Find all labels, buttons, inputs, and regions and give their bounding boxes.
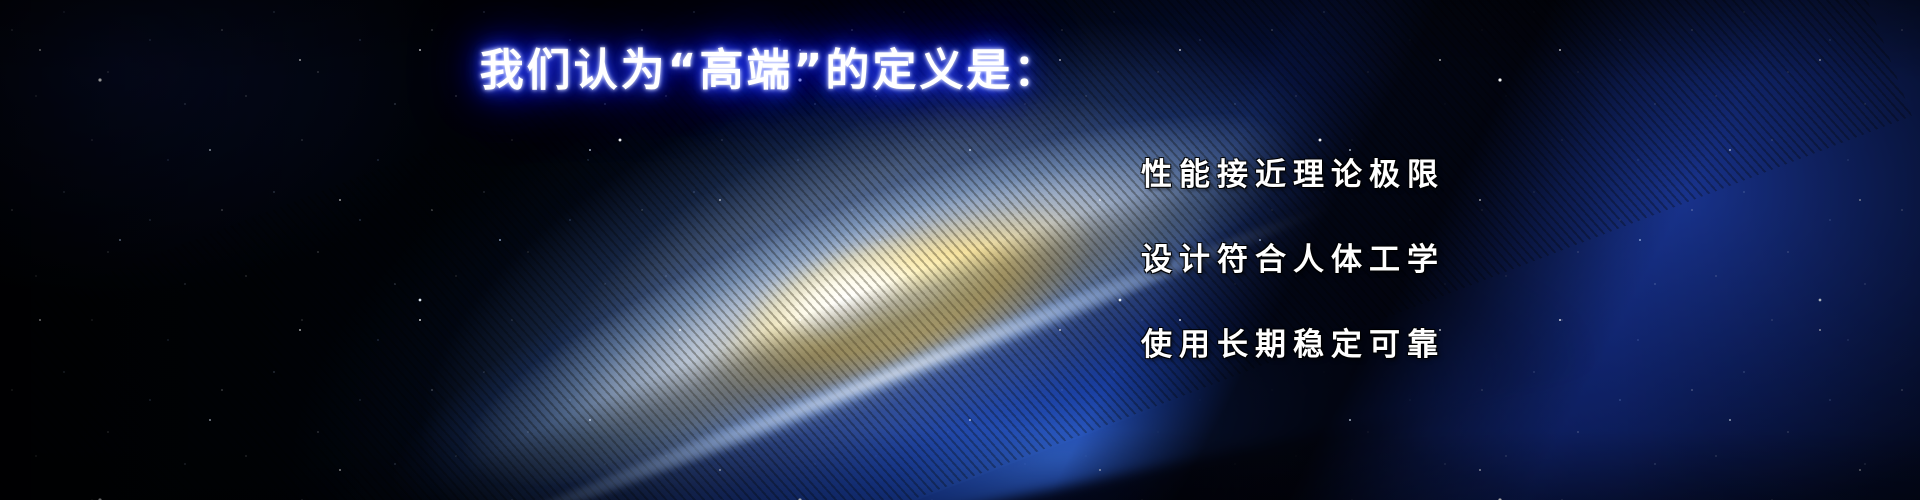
tagline-item: 使用长期稳定可靠	[0, 330, 1445, 361]
tagline-item: 性能接近理论极限	[0, 160, 1445, 191]
banner-content: 我们认为“高端”的定义是： 性能接近理论极限 设计符合人体工学 使用长期稳定可靠	[0, 0, 1920, 500]
banner-headline: 我们认为“高端”的定义是：	[0, 34, 1540, 98]
tagline-list: 性能接近理论极限 设计符合人体工学 使用长期稳定可靠	[0, 160, 1445, 361]
hero-banner: 我们认为“高端”的定义是： 性能接近理论极限 设计符合人体工学 使用长期稳定可靠	[0, 0, 1920, 500]
tagline-item: 设计符合人体工学	[0, 245, 1445, 276]
